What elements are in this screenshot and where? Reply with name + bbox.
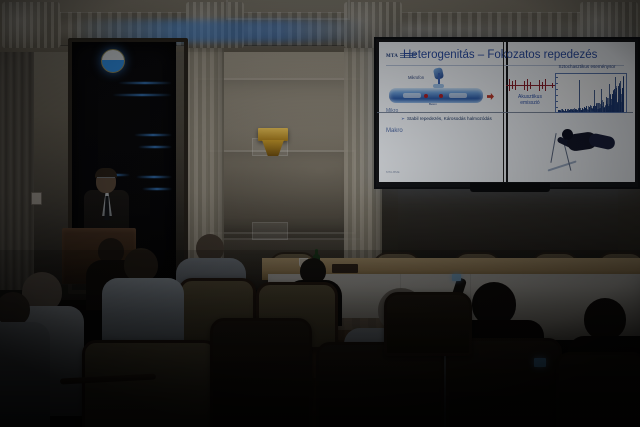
torso <box>0 322 50 427</box>
chair[interactable] <box>82 340 218 427</box>
door-blue-reflection-2 <box>112 94 172 96</box>
head <box>124 248 158 282</box>
door-blue-reflection-3 <box>134 134 172 136</box>
light-switch[interactable] <box>31 192 42 205</box>
conference-presentation-photo: MTA Heterogenitás – Fokozatos repedezés … <box>0 0 640 427</box>
door-blue-reflection-6 <box>136 176 172 178</box>
speaker-glasses-icon <box>97 177 115 182</box>
door-blue-reflection-4 <box>138 146 172 148</box>
phone-screen[interactable] <box>452 274 461 281</box>
chair[interactable] <box>556 352 640 427</box>
screen-mount <box>470 183 550 192</box>
round-wall-lamp-icon <box>101 49 125 73</box>
door-blue-reflection-1 <box>118 82 172 84</box>
gilded-console-shelf <box>258 128 288 141</box>
screen-pane-left <box>379 42 506 182</box>
projection-screen[interactable] <box>374 37 640 189</box>
screen-pane-right <box>508 42 635 182</box>
wall-panel-notch-bottom <box>252 222 288 240</box>
phone-screen-glow[interactable] <box>534 358 546 367</box>
door-blue-reflection-7 <box>142 188 172 190</box>
chair[interactable] <box>384 292 472 356</box>
head <box>584 298 626 340</box>
head <box>0 292 30 326</box>
chair[interactable] <box>210 318 312 427</box>
ceiling-panel <box>226 0 350 20</box>
closed-case-on-table <box>332 264 358 273</box>
column-capital-1 <box>2 2 60 48</box>
